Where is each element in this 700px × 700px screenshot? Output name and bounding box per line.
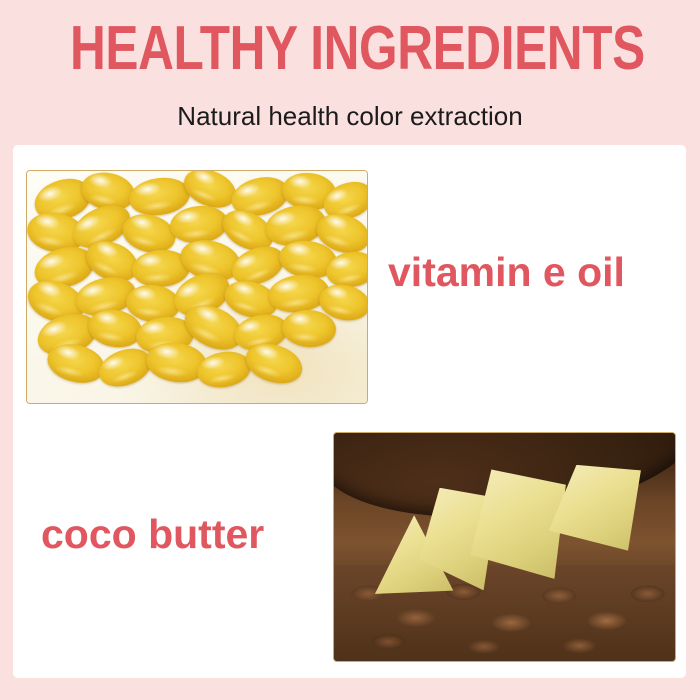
coco-butter-photo — [333, 432, 676, 662]
ingredient-label-vitamin-e-oil: vitamin e oil — [388, 250, 625, 295]
ingredient-row-coco-butter: coco butter — [13, 415, 686, 678]
page-title: HEALTHY INGREDIENTS — [70, 18, 630, 80]
page-subtitle: Natural health color extraction — [0, 101, 700, 132]
ingredient-row-vitamin-e-oil: vitamin e oil — [13, 145, 686, 415]
vitamin-e-oil-photo — [26, 170, 368, 404]
coco-butter-photo-inner — [334, 433, 675, 661]
ingredient-label-coco-butter: coco butter — [41, 512, 264, 557]
poster-header: HEALTHY INGREDIENTS Natural health color… — [0, 0, 700, 145]
vitamin-e-oil-photo-inner — [27, 171, 367, 403]
content-card: vitamin e oil coco butter — [13, 145, 686, 678]
ingredients-poster: HEALTHY INGREDIENTS Natural health color… — [0, 0, 700, 700]
